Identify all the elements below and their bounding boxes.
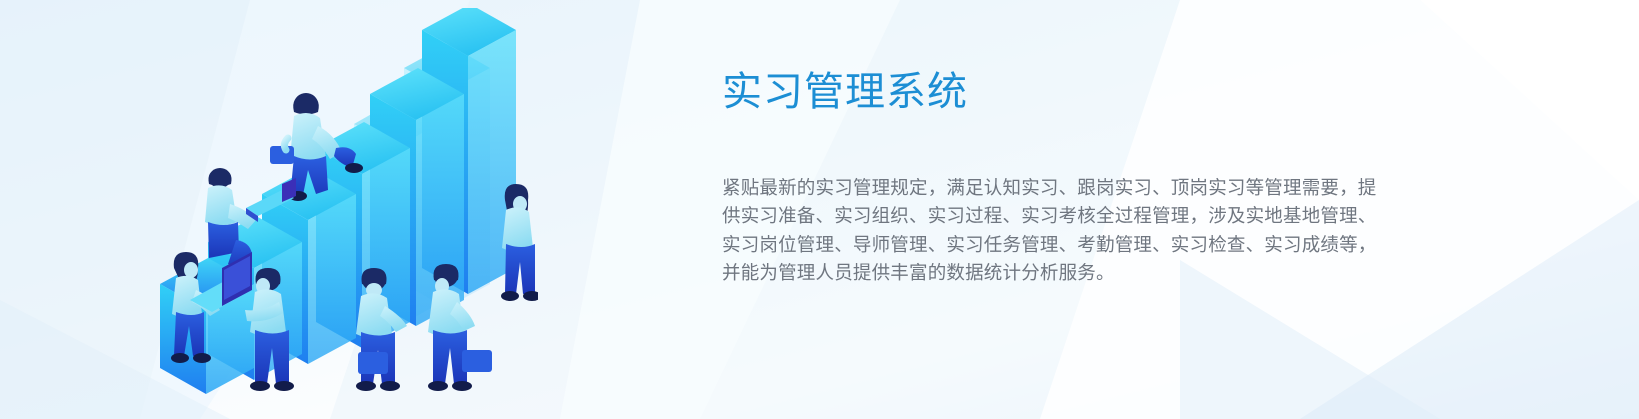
page-title: 实习管理系统 bbox=[722, 66, 1412, 118]
description-line: 紧贴最新的实习管理规定，满足认知实习、跟岗实习、顶岗实习等管理需要，提 bbox=[722, 174, 1412, 202]
copy-block: 实习管理系统 紧贴最新的实习管理规定，满足认知实习、跟岗实习、顶岗实习等管理需要… bbox=[722, 66, 1412, 288]
description-line: 供实习准备、实习组织、实习过程、实习考核全过程管理，涉及实地基地管理、 bbox=[722, 202, 1412, 230]
description-line: 实习岗位管理、导师管理、实习任务管理、考勤管理、实习检查、实习成绩等， bbox=[722, 231, 1412, 259]
person-far-right bbox=[501, 184, 538, 301]
description-paragraph: 紧贴最新的实习管理规定，满足认知实习、跟岗实习、顶岗实习等管理需要，提 供实习准… bbox=[722, 174, 1412, 288]
banner-hero: 实习管理系统 紧贴最新的实习管理规定，满足认知实习、跟岗实习、顶岗实习等管理需要… bbox=[0, 0, 1639, 419]
description-line: 并能为管理人员提供丰富的数据统计分析服务。 bbox=[722, 259, 1412, 287]
growth-chart-illustration bbox=[118, 8, 538, 408]
